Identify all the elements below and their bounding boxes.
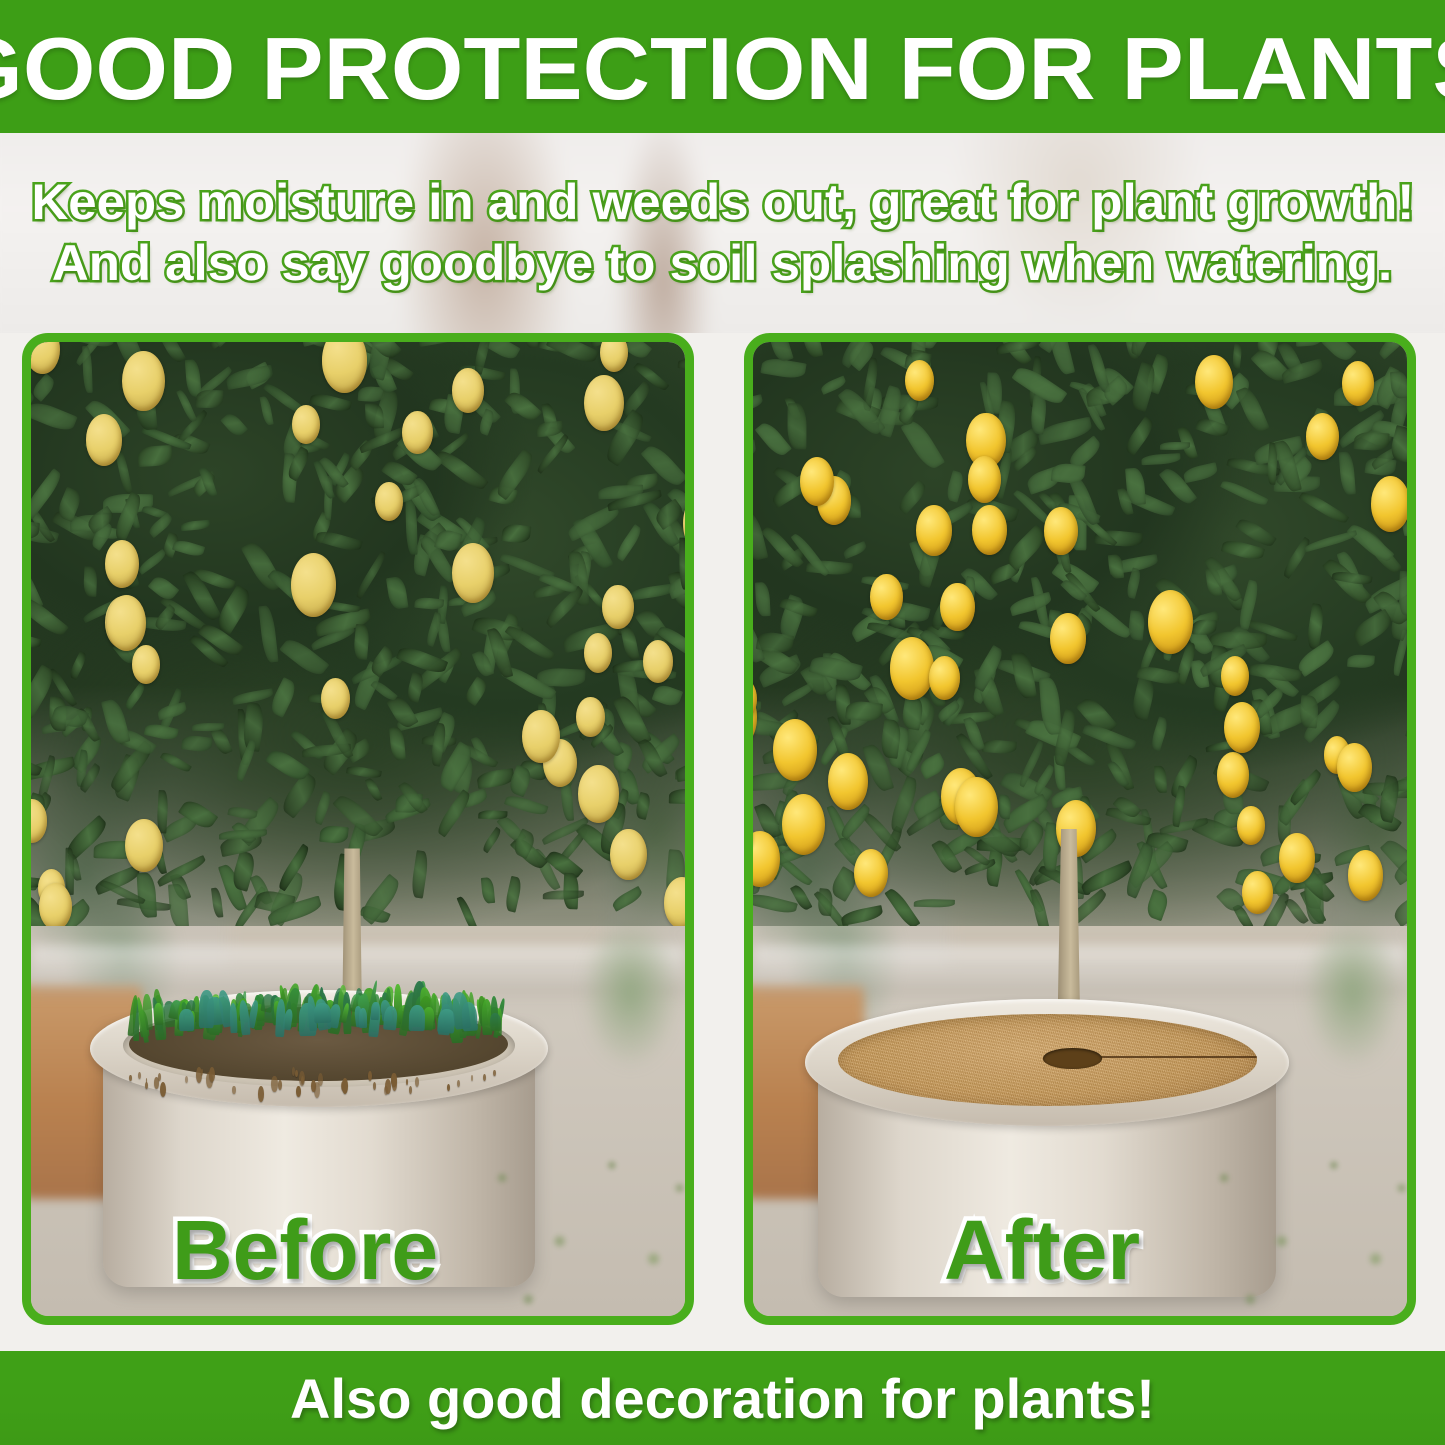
fruit: [576, 697, 605, 738]
soil-crumb: [342, 1078, 348, 1094]
soil-crumb: [129, 1075, 131, 1081]
foreground-ivy-right: [1172, 1102, 1407, 1316]
fruit: [828, 753, 868, 810]
fruit: [1224, 702, 1260, 753]
subtitle-line-1: Keeps moisture in and weeds out, great f…: [31, 173, 1414, 232]
subtitle-line-2: And also say goodbye to soil splashing w…: [52, 234, 1392, 293]
soil-crumb: [278, 1080, 282, 1090]
soil-crumb: [295, 1070, 298, 1077]
foreground-ivy-right: [450, 1102, 685, 1316]
fruit: [854, 849, 888, 897]
fruit: [916, 505, 952, 555]
leaf: [817, 888, 833, 916]
page-title: GOOD PROTECTION FOR PLANTS: [0, 21, 1445, 113]
soil-crumb: [232, 1086, 235, 1095]
fruit: [1217, 752, 1250, 798]
blue-fescue-tuft: [199, 990, 214, 1028]
after-label: After: [944, 1208, 1140, 1292]
fruit: [105, 540, 139, 588]
header-banner: GOOD PROTECTION FOR PLANTS: [0, 0, 1445, 133]
footer-banner: Also good decoration for plants!: [0, 1351, 1445, 1445]
subtitle-text-group: Keeps moisture in and weeds out, great f…: [0, 133, 1445, 333]
fruit: [125, 819, 163, 872]
fruit: [132, 645, 160, 684]
soil-crumb: [138, 1072, 141, 1079]
fruit: [375, 482, 403, 522]
before-photo-panel: [22, 333, 694, 1325]
leaf: [997, 795, 1011, 820]
fruit: [773, 719, 817, 781]
soil-crumb: [409, 1086, 412, 1094]
blue-fescue-tuft: [179, 1009, 194, 1032]
soil-crumb: [185, 1076, 188, 1084]
soil-crumb: [271, 1076, 277, 1092]
fruit: [1371, 476, 1407, 532]
before-label: Before: [172, 1208, 438, 1292]
leaf: [845, 700, 883, 723]
after-photo-panel: [744, 333, 1416, 1325]
fruit: [1279, 833, 1314, 883]
fruit: [1337, 743, 1372, 792]
fruit: [1044, 507, 1078, 555]
leaf: [679, 538, 685, 590]
fruit: [610, 829, 646, 881]
fruit: [584, 633, 612, 673]
foreground-ivy-left: [753, 1160, 962, 1316]
blue-fescue-tuft: [370, 1002, 379, 1020]
fruit: [890, 637, 935, 700]
before-photo: [31, 342, 685, 1316]
fruit: [402, 411, 432, 454]
leaf: [1160, 441, 1191, 450]
fruit: [1348, 850, 1384, 901]
coir-mat-center-hole: [1043, 1048, 1102, 1068]
fruit: [602, 585, 634, 630]
subtitle-band: Keeps moisture in and weeds out, great f…: [0, 133, 1445, 333]
fruit: [107, 595, 146, 651]
fruit: [291, 553, 336, 617]
fruit: [1050, 613, 1086, 664]
fruit: [292, 405, 320, 444]
soil-crumb: [415, 1077, 419, 1087]
fruit: [643, 640, 673, 683]
citrus-tree-canopy-before: [31, 342, 685, 926]
soil-crumb: [311, 1080, 316, 1092]
citrus-tree-canopy-after: [753, 342, 1407, 926]
blue-fescue-tuft: [409, 1005, 426, 1031]
leaf: [1398, 571, 1407, 615]
fruit: [86, 414, 122, 465]
fruit: [39, 883, 72, 927]
fruit: [1342, 361, 1374, 406]
fruit: [452, 368, 483, 413]
fruit: [929, 656, 960, 700]
fruit: [321, 678, 350, 719]
fruit: [782, 794, 825, 855]
fruit: [955, 777, 997, 837]
fruit: [584, 375, 624, 431]
soil-crumb: [160, 1082, 166, 1097]
soil-crumb: [296, 1086, 301, 1097]
fruit: [1306, 413, 1339, 460]
fruit: [452, 543, 494, 603]
fruit: [870, 574, 902, 620]
soil-crumb: [385, 1079, 391, 1094]
after-photo: [753, 342, 1407, 1316]
leaf: [543, 890, 584, 900]
fruit: [122, 351, 164, 411]
fruit: [1242, 871, 1273, 914]
soil-crumb: [368, 1071, 372, 1081]
soil-crumb: [209, 1067, 215, 1082]
soil-crumb: [493, 1070, 495, 1076]
grass-tuft: [154, 1003, 163, 1026]
soil-crumb: [158, 1073, 161, 1081]
blue-fescue-tuft: [314, 1002, 332, 1023]
fruit: [578, 765, 619, 823]
leaf: [1346, 654, 1374, 669]
fruit: [972, 505, 1007, 555]
footer-caption: Also good decoration for plants!: [290, 1366, 1155, 1431]
fruit: [522, 710, 560, 763]
soil-crumb: [145, 1082, 148, 1089]
leaf: [787, 403, 806, 449]
soil-crumb: [457, 1080, 460, 1088]
fruit: [1195, 355, 1233, 409]
leaf: [196, 390, 223, 409]
blue-fescue-tuft: [359, 1008, 367, 1028]
fruit: [940, 583, 974, 631]
